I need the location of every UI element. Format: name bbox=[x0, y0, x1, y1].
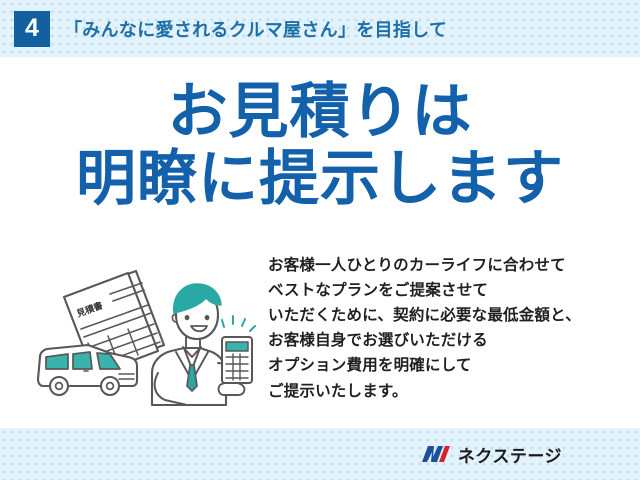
body-line-5: オプション費用を明確にして bbox=[268, 353, 640, 378]
nextstage-n-logo-icon bbox=[421, 443, 451, 465]
main-content-panel: お見積りは 明瞭に提示します 見積書 bbox=[0, 57, 640, 428]
headline-line-2: 明瞭に提示します bbox=[0, 148, 640, 209]
headline: お見積りは 明瞭に提示します bbox=[0, 81, 640, 209]
brand-name: ネクステージ bbox=[458, 442, 562, 467]
brand-logo: ネクステージ bbox=[421, 442, 562, 467]
body-line-4: お客様自身でお選びいただける bbox=[268, 328, 640, 353]
footer-band: ネクステージ bbox=[0, 428, 640, 480]
advertisement-page: 4 「みんなに愛されるクルマ屋さん」を目指して お見積りは 明瞭に提示します 見… bbox=[0, 0, 640, 480]
header-band: 4 「みんなに愛されるクルマ屋さん」を目指して bbox=[0, 0, 640, 57]
body-line-1: お客様一人ひとりのカーライフに合わせて bbox=[268, 253, 640, 278]
illustration-salesman-estimate-van: 見積書 bbox=[24, 253, 264, 418]
headline-line-1: お見積りは bbox=[0, 81, 640, 142]
body-line-3: いただくために、契約に必要な最低金額と、 bbox=[268, 303, 640, 328]
body-copy: お客様一人ひとりのカーライフに合わせて ベストなプランをご提案させて いただくた… bbox=[268, 253, 640, 404]
body-line-2: ベストなプランをご提案させて bbox=[268, 278, 640, 303]
body-line-6: ご提示いたします。 bbox=[268, 379, 640, 404]
header-title: 「みんなに愛されるクルマ屋さん」を目指して bbox=[64, 16, 447, 42]
section-number-badge: 4 bbox=[14, 11, 50, 47]
